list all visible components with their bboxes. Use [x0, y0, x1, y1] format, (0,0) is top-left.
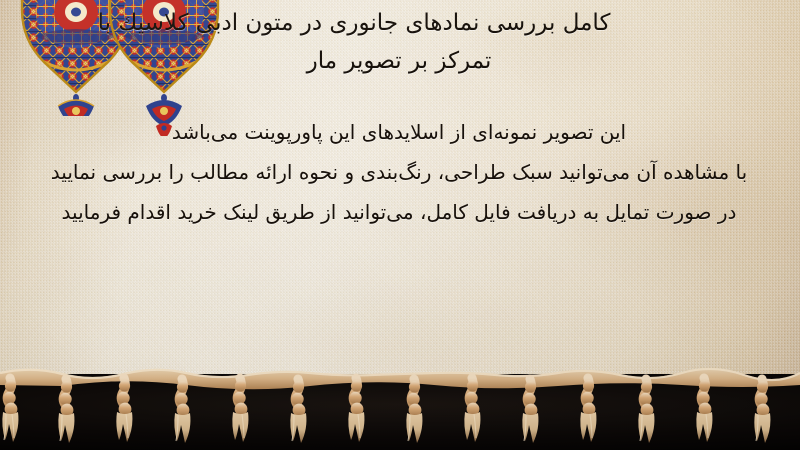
tassel-group — [2, 378, 770, 443]
fringe-tassels-icon — [0, 352, 800, 450]
body-line-2: با مشاهده آن می‌توانید سبک طراحی، رنگ‌بن… — [8, 152, 790, 192]
presentation-slide: کامل بررسی نمادهای جانوری در متون ادبی ک… — [0, 0, 800, 450]
title-line-1: کامل بررسی نمادهای جانوری در متون ادبی ک… — [14, 4, 784, 42]
body-line-3: در صورت تمایل به دریافت فایل کامل، می‌تو… — [8, 192, 790, 232]
body-line-1: این تصویر نمونه‌ای از اسلایدهای این پاور… — [8, 112, 790, 152]
slide-body-text: این تصویر نمونه‌ای از اسلایدهای این پاور… — [8, 112, 790, 232]
title-line-2: تمرکز بر تصویر مار — [14, 42, 784, 80]
slide-title: کامل بررسی نمادهای جانوری در متون ادبی ک… — [14, 4, 784, 80]
carpet-fringe-band — [0, 352, 800, 450]
